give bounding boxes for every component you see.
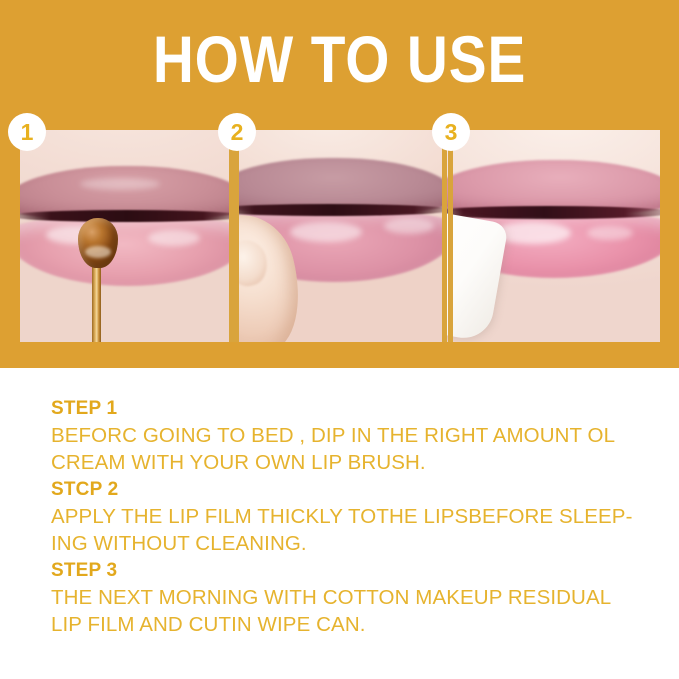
step-3-body: THE NEXT MORNING WITH COTTON MAKEUP RESI…: [51, 584, 651, 638]
step-3-heading: STEP 3: [51, 558, 651, 584]
step-badge-1: 1: [8, 113, 46, 151]
mouth-line-1: [20, 210, 229, 222]
step-2-body: APPLY THE LIP FILM THICKLY TOTHE LIPSBEF…: [51, 503, 651, 557]
badge-stem-2: [234, 130, 239, 342]
mouth-line-3: [447, 206, 660, 219]
photo-step-3: [447, 130, 660, 342]
applicator-bead-icon: [78, 218, 118, 268]
applicator-handle-icon: [92, 262, 101, 342]
photo-step-1: [20, 130, 229, 342]
step-badge-3: 3: [432, 113, 470, 151]
how-to-use-infographic: HOW TO USE: [0, 0, 679, 679]
photo-strip: [20, 130, 660, 342]
step-1-body: BEFORC GOING TO BED , DIP IN THE RIGHT A…: [51, 422, 651, 476]
page-title: HOW TO USE: [48, 22, 632, 96]
instruction-step-1: STEP 1 BEFORC GOING TO BED , DIP IN THE …: [51, 396, 651, 476]
instruction-step-2: STCP 2 APPLY THE LIP FILM THICKLY TOTHE …: [51, 477, 651, 557]
step-1-heading: STEP 1: [51, 396, 651, 422]
photo-step-2: [234, 130, 442, 342]
step-2-heading: STCP 2: [51, 477, 651, 503]
badge-stem-3: [448, 130, 453, 342]
instructions-list: STEP 1 BEFORC GOING TO BED , DIP IN THE …: [51, 396, 651, 639]
step-badge-2: 2: [218, 113, 256, 151]
mouth-line-2: [234, 204, 442, 216]
instruction-step-3: STEP 3 THE NEXT MORNING WITH COTTON MAKE…: [51, 558, 651, 638]
